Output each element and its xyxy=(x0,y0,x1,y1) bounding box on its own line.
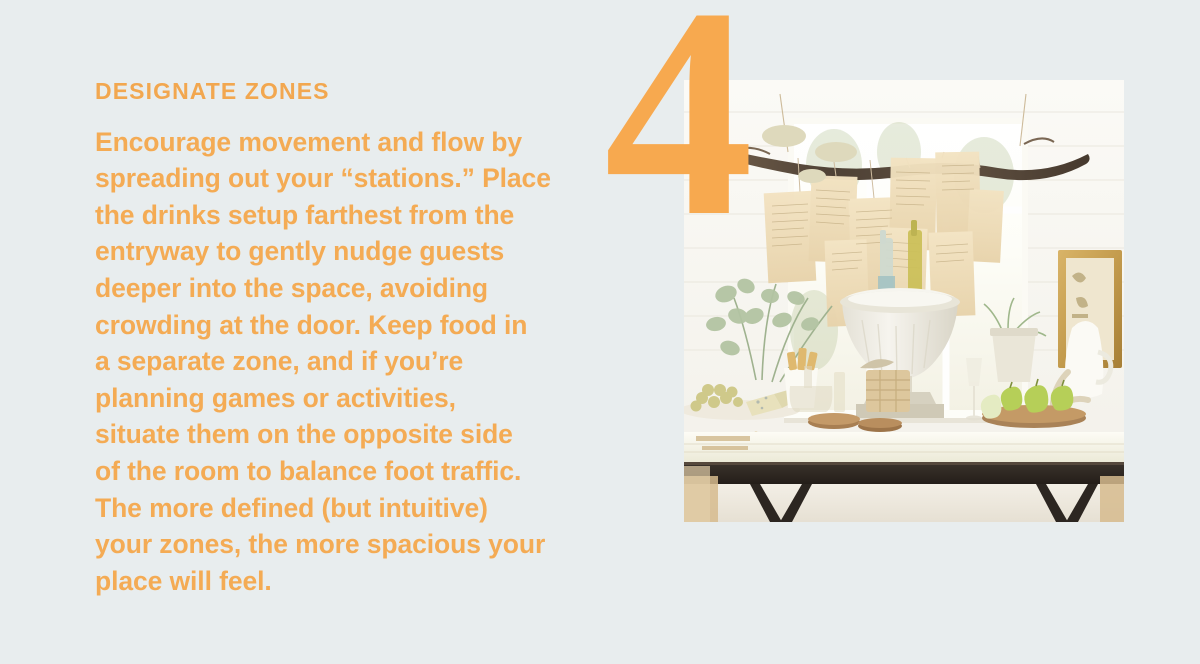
body-line: situate them on the opposite side xyxy=(95,416,595,453)
page-canvas: DESIGNATE ZONES Encourage movement and f… xyxy=(0,0,1200,664)
body-line: spreading out your “stations.” Place xyxy=(95,160,595,197)
body-line: of the room to balance foot traffic. xyxy=(95,453,595,490)
page-title: DESIGNATE ZONES xyxy=(95,78,595,106)
body-line: crowding at the door. Keep food in xyxy=(95,307,595,344)
body-line: Encourage movement and flow by xyxy=(95,124,595,161)
body-line: deeper into the space, avoiding xyxy=(95,270,595,307)
body-line: a separate zone, and if you’re xyxy=(95,343,595,380)
text-column: DESIGNATE ZONES Encourage movement and f… xyxy=(95,78,595,599)
body-line: your zones, the more spacious your xyxy=(95,526,595,563)
body-line: The more defined (but intuitive) xyxy=(95,490,595,527)
body-copy: Encourage movement and flow by spreading… xyxy=(95,124,595,600)
body-line: place will feel. xyxy=(95,563,595,600)
body-line: planning games or activities, xyxy=(95,380,595,417)
body-line: entryway to gently nudge guests xyxy=(95,233,595,270)
body-line: the drinks setup farthest from the xyxy=(95,197,595,234)
step-numeral: 4 xyxy=(604,0,754,262)
